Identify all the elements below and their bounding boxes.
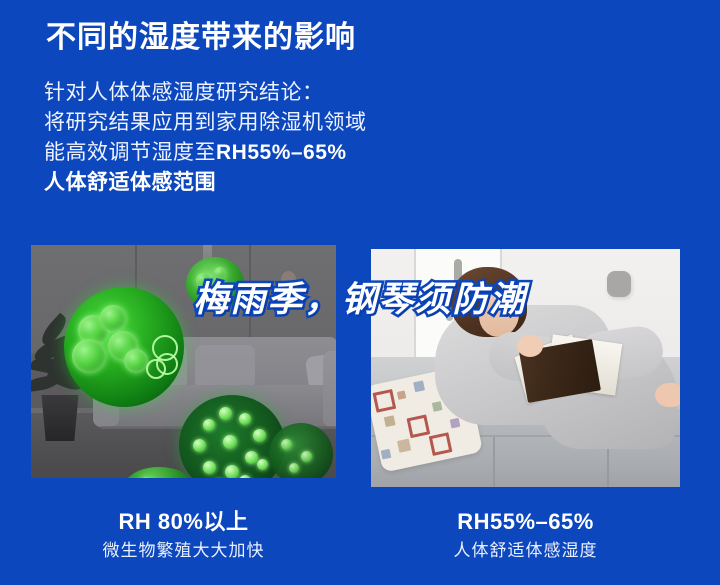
page-title: 不同的湿度带来的影响 [46, 18, 356, 58]
copy-line-3: 能高效调节湿度至RH55%–65% [44, 138, 474, 168]
promo-poster: 不同的湿度带来的影响 针对人体体感湿度研究结论： 将研究结果应用到家用除湿机领域… [0, 0, 720, 585]
sofa-seam [493, 437, 495, 487]
caption-left: RH 80%以上 微生物繁殖大大加快 [31, 508, 336, 564]
copy-line-1: 针对人体体感湿度研究结论： [44, 78, 474, 108]
wall-speaker-icon [607, 271, 631, 297]
photo-right-comfort-room [371, 249, 680, 487]
copy-line-2: 将研究结果应用到家用除湿机领域 [44, 108, 474, 138]
wall-knob-icon [281, 271, 296, 289]
person-hand [517, 335, 543, 357]
body-copy: 针对人体体感湿度研究结论： 将研究结果应用到家用除湿机领域 能高效调节湿度至RH… [44, 78, 474, 198]
copy-line-3-value: RH55%–65% [216, 141, 347, 164]
copy-line-4: 人体舒适体感范围 [44, 168, 474, 198]
plant-pot [39, 395, 81, 441]
sofa-cushion [195, 345, 255, 389]
left-room-scene [31, 245, 336, 478]
caption-right: RH55%–65% 人体舒适体感湿度 [371, 508, 680, 564]
caption-left-subtitle: 微生物繁殖大大加快 [31, 538, 336, 564]
photo-left-humid-room [31, 245, 336, 478]
microbe-sphere-top [186, 257, 244, 311]
caption-right-title: RH55%–65% [371, 508, 680, 536]
microbe-sphere-side [269, 423, 333, 478]
person-foot [655, 383, 680, 407]
copy-line-3-plain: 能高效调节湿度至 [44, 141, 216, 164]
caption-right-subtitle: 人体舒适体感湿度 [371, 538, 680, 564]
right-room-scene [371, 249, 680, 487]
sofa-arm-right [323, 351, 336, 427]
microbe-cluster-large [64, 287, 184, 407]
caption-left-title: RH 80%以上 [31, 508, 336, 536]
